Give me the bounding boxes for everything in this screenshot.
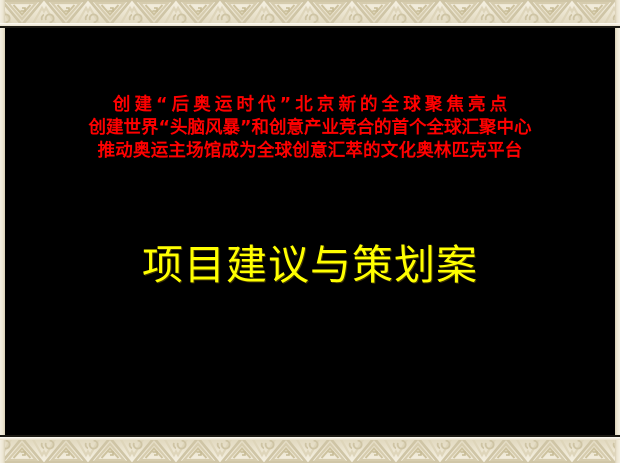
left-margin-strip: [0, 0, 5, 463]
presentation-slide: 创建“后奥运时代”北京新的全球聚焦亮点 创建世界“头脑风暴”和创意产业竞合的首个…: [0, 0, 620, 463]
headline-line-3: 推动奥运主场馆成为全球创意汇萃的文化奥林匹克平台: [5, 140, 615, 163]
headline-line-1: 创建“后奥运时代”北京新的全球聚焦亮点: [5, 94, 615, 117]
headline-line-2: 创建世界“头脑风暴”和创意产业竞合的首个全球汇聚中心: [5, 117, 615, 140]
slide-content-area: 创建“后奥运时代”北京新的全球聚焦亮点 创建世界“头脑风暴”和创意产业竞合的首个…: [5, 28, 615, 435]
top-rule-dark: [0, 26, 620, 28]
headline-block: 创建“后奥运时代”北京新的全球聚焦亮点 创建世界“头脑风暴”和创意产业竞合的首个…: [5, 94, 615, 163]
slide-main-title: 项目建议与策划案: [5, 240, 615, 290]
right-margin-strip: [615, 0, 620, 463]
bottom-rule-light: [0, 437, 620, 440]
